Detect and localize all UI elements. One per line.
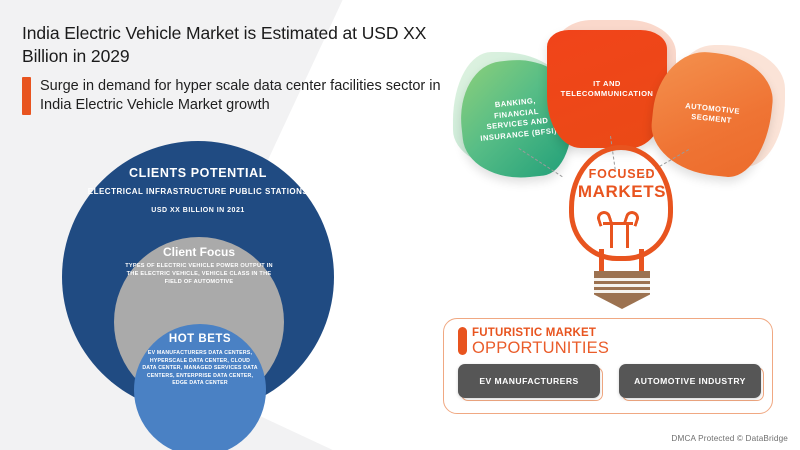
focused-markets-line1: FOCUSED xyxy=(547,167,697,181)
page-title: India Electric Vehicle Market is Estimat… xyxy=(22,22,442,68)
concentric-rings-diagram: CLIENTS POTENTIAL ELECTRICAL INFRASTRUCT… xyxy=(62,141,334,413)
petal-automotive-label: AUTOMOTIVE SEGMENT xyxy=(652,97,772,130)
ring-outer-label: CLIENTS POTENTIAL xyxy=(62,166,334,180)
focused-markets-line2: MARKETS xyxy=(547,182,697,202)
lightbulb-base-line-2 xyxy=(594,284,650,287)
panel-heading-line1: FUTURISTIC MARKET xyxy=(472,327,609,339)
ring-hot-bets[interactable]: HOT BETS EV MANUFACTURERS DATA CENTERS, … xyxy=(134,324,266,450)
petal-it-label: IT AND TELECOMMUNICATION xyxy=(547,79,668,100)
accent-bar xyxy=(22,77,31,115)
ring-outer-line1: ELECTRICAL INFRASTRUCTURE PUBLIC STATION… xyxy=(62,186,334,198)
panel-buttons: EV MANUFACTURERS AUTOMOTIVE INDUSTRY xyxy=(458,364,761,398)
petal-it-telecommunication[interactable]: IT AND TELECOMMUNICATION xyxy=(547,30,667,148)
ring-outer-line2: USD XX BILLION IN 2021 xyxy=(62,207,334,214)
automotive-industry-slot: AUTOMOTIVE INDUSTRY xyxy=(619,364,761,398)
ring-inner-label: HOT BETS xyxy=(134,333,266,345)
footer-credit: DMCA Protected © DataBridge xyxy=(671,434,788,443)
ev-manufacturers-slot: EV MANUFACTURERS xyxy=(458,364,600,398)
subtitle-row: Surge in demand for hyper scale data cen… xyxy=(22,77,442,115)
petal-it-body[interactable]: IT AND TELECOMMUNICATION xyxy=(547,30,667,148)
futuristic-opportunities-panel: FUTURISTIC MARKET OPPORTUNITIES EV MANUF… xyxy=(443,318,773,414)
ring-inner-line1: EV MANUFACTURERS DATA CENTERS, HYPERSCAL… xyxy=(134,350,266,388)
lightbulb-base-line-1 xyxy=(594,278,650,281)
lightbulb-filament-stem-right xyxy=(626,223,629,248)
ev-manufacturers-button[interactable]: EV MANUFACTURERS xyxy=(458,364,600,398)
panel-accent-pill xyxy=(458,327,467,355)
infographic-slide: India Electric Vehicle Market is Estimat… xyxy=(0,0,800,450)
panel-heading: FUTURISTIC MARKET OPPORTUNITIES xyxy=(458,327,609,357)
lightbulb-icon: FOCUSED MARKETS xyxy=(547,145,697,315)
panel-heading-line2: OPPORTUNITIES xyxy=(472,340,609,357)
lightbulb-glass xyxy=(569,145,673,261)
ring-middle-label: Client Focus xyxy=(114,245,284,259)
ring-middle-line1: TYPES OF ELECTRIC VEHICLE POWER OUTPUT I… xyxy=(114,262,284,286)
lightbulb-filament-stem-left xyxy=(610,223,613,248)
page-subtitle: Surge in demand for hyper scale data cen… xyxy=(40,77,442,115)
lightbulb-neck xyxy=(599,249,644,271)
header-block: India Electric Vehicle Market is Estimat… xyxy=(22,22,442,115)
lightbulb-base-line-3 xyxy=(594,290,650,293)
lightbulb-base xyxy=(594,271,650,309)
lightbulb-text: FOCUSED MARKETS xyxy=(547,167,697,202)
automotive-industry-button[interactable]: AUTOMOTIVE INDUSTRY xyxy=(619,364,761,398)
